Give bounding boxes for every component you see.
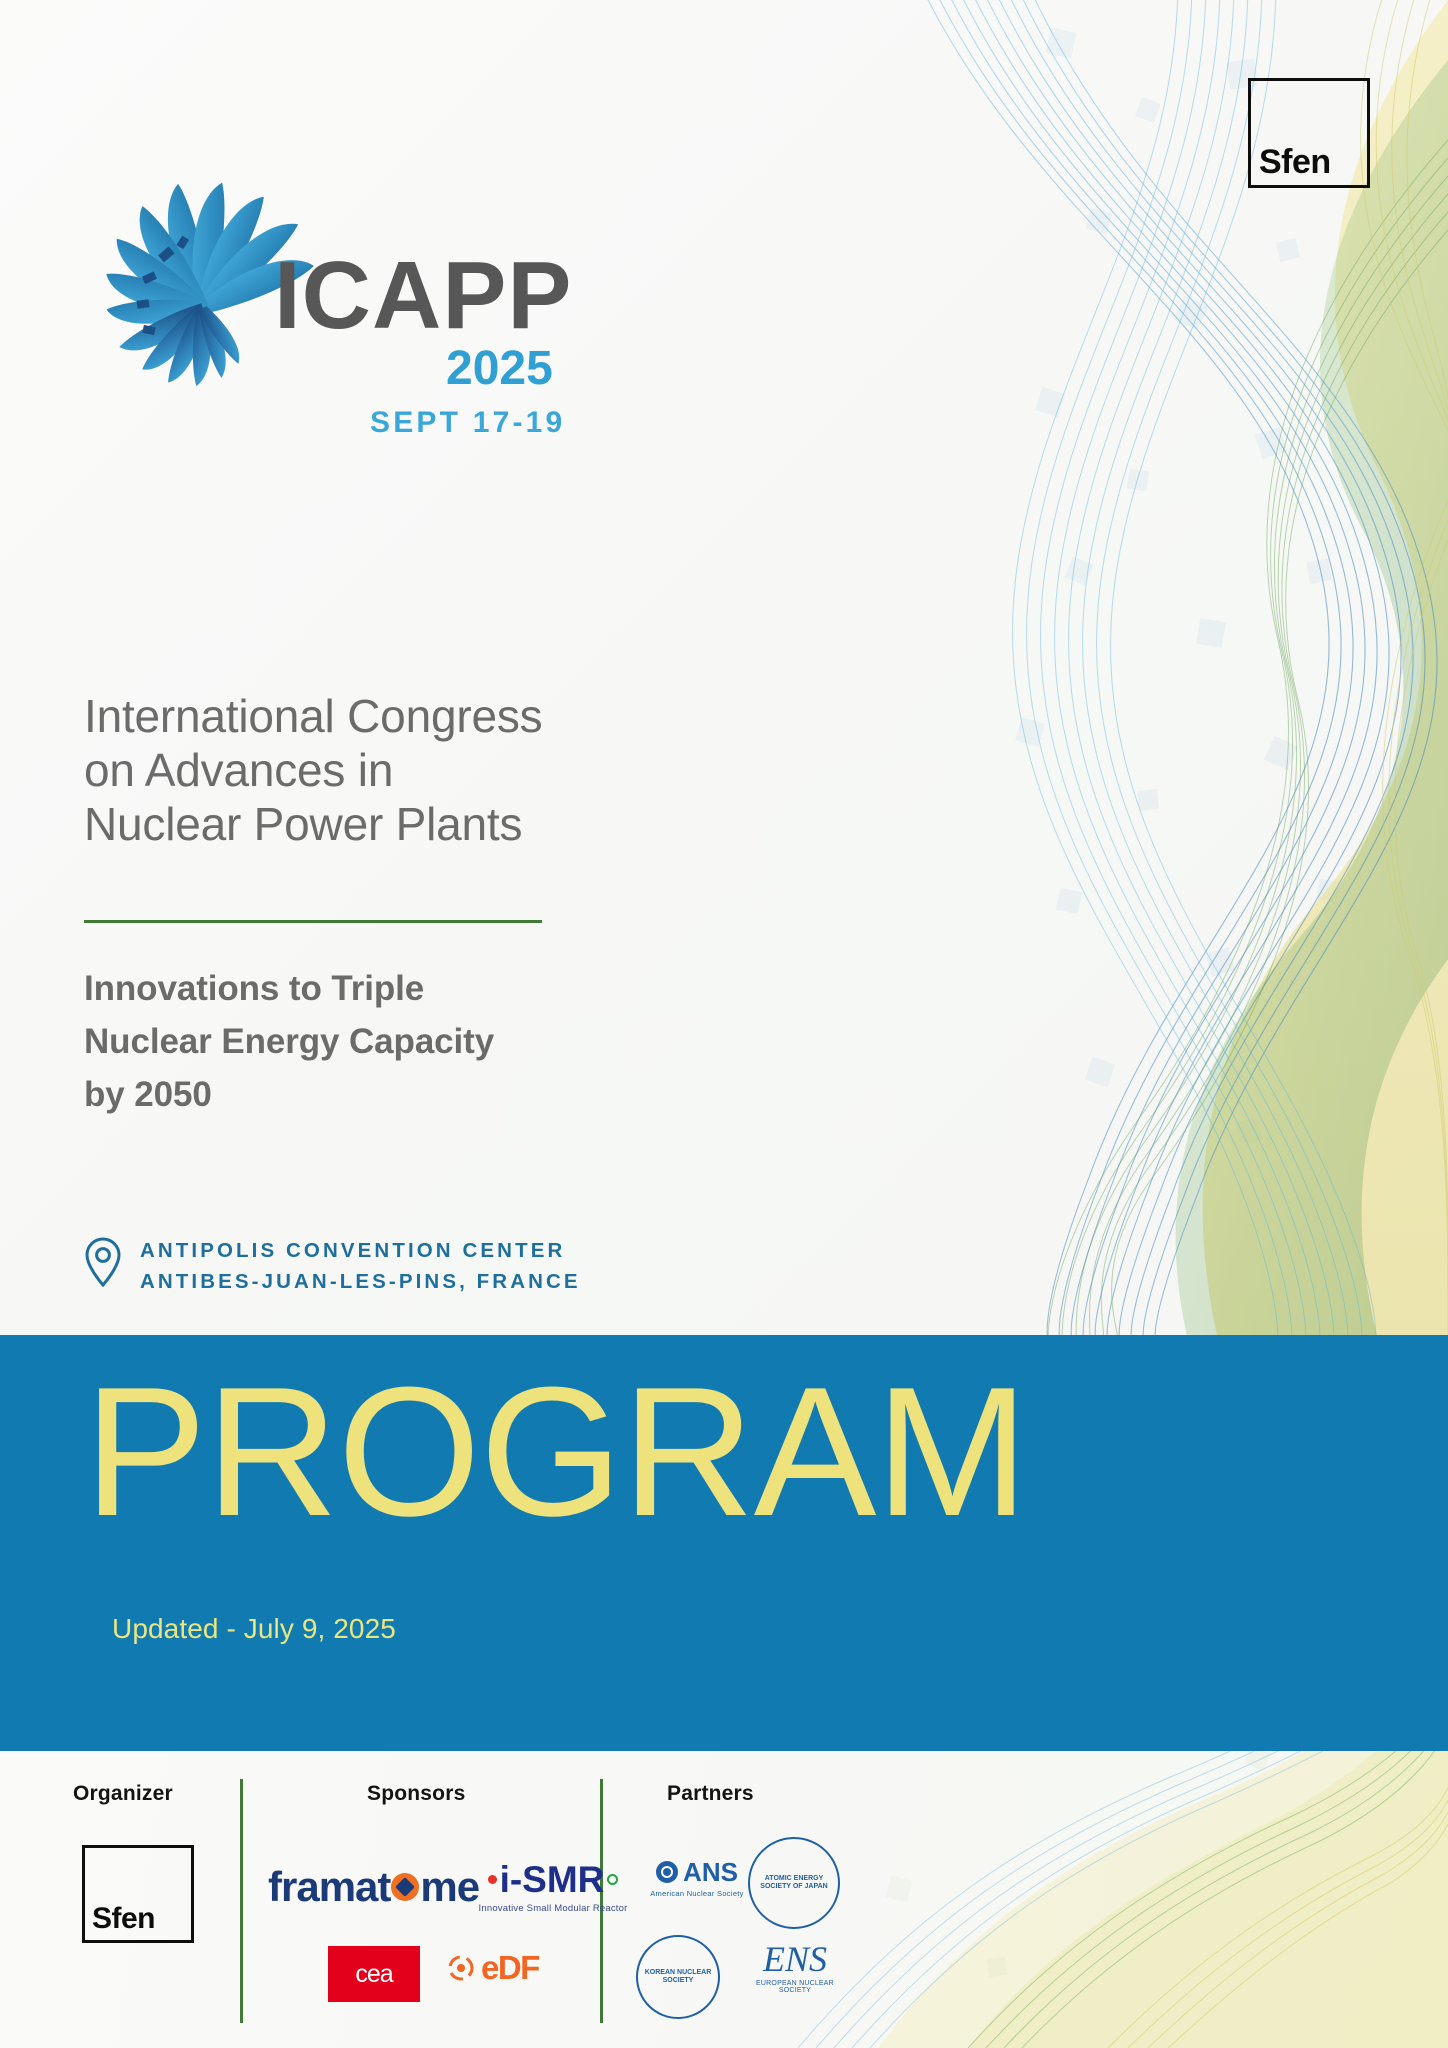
venue-line1: ANTIPOLIS CONVENTION CENTER (140, 1235, 581, 1266)
congress-title-line3: Nuclear Power Plants (84, 798, 644, 852)
aesj-logo: ATOMIC ENERGY SOCIETY OF JAPAN (748, 1837, 840, 1929)
program-title: PROGRAM (84, 1359, 1028, 1543)
ismr-wordmark: i-SMR (468, 1861, 638, 1898)
framatome-logo: framatme (268, 1866, 479, 1908)
edf-logo: eDF (448, 1951, 539, 1984)
cea-logo: cea (328, 1946, 420, 2002)
ismr-ring-icon (607, 1874, 618, 1885)
congress-title: International Congress on Advances in Nu… (84, 690, 644, 851)
icapp-wordmark: ICAPP (274, 248, 572, 344)
program-updated-date: Updated - July 9, 2025 (112, 1613, 396, 1645)
location-pin-icon (84, 1237, 122, 1287)
aesj-seal-text: ATOMIC ENERGY SOCIETY OF JAPAN (750, 1871, 838, 1895)
poster-page: ICAPP 2025 SEPT 17-19 Sfen International… (0, 0, 1448, 2048)
framatome-o-icon (391, 1873, 419, 1901)
tagline-line1: Innovations to Triple (84, 962, 604, 1015)
ens-logo: ENS EUROPEAN NUCLEAR SOCIETY (740, 1941, 850, 1994)
ans-atom-icon (656, 1861, 678, 1883)
program-banner: PROGRAM (0, 1335, 1448, 1751)
edf-mark-icon (448, 1955, 474, 1981)
title-divider (84, 920, 542, 923)
congress-title-line2: on Advances in (84, 744, 644, 798)
footer-logos: Organizer Sponsors Partners Sfen framatm… (0, 1751, 1448, 2048)
ens-wordmark: ENS (740, 1941, 850, 1977)
ismr-dot-icon (488, 1875, 497, 1884)
ismr-text: i-SMR (500, 1861, 605, 1898)
tagline-line2: Nuclear Energy Capacity (84, 1015, 604, 1068)
ens-subtext: EUROPEAN NUCLEAR SOCIETY (740, 1980, 850, 1994)
ans-wordmark: ANS (683, 1859, 738, 1885)
footer-label-partners: Partners (667, 1782, 754, 1806)
venue-block: ANTIPOLIS CONVENTION CENTER ANTIBES-JUAN… (84, 1235, 581, 1297)
ismr-subtext: Innovative Small Modular Reactor (468, 1903, 638, 1914)
footer-label-sponsors: Sponsors (367, 1782, 465, 1806)
sfen-logo-top: Sfen (1248, 78, 1370, 188)
footer-label-organizer: Organizer (73, 1782, 173, 1806)
kns-logo: KOREAN NUCLEAR SOCIETY (636, 1935, 720, 2019)
venue-address: ANTIPOLIS CONVENTION CENTER ANTIBES-JUAN… (140, 1235, 581, 1297)
congress-title-line1: International Congress (84, 690, 644, 744)
ans-subtext: American Nuclear Society (632, 1889, 762, 1898)
sfen-footer-wordmark: Sfen (92, 1904, 155, 1934)
edf-wordmark: eDF (481, 1951, 539, 1984)
icapp-dates: SEPT 17-19 (370, 408, 565, 438)
wave-artwork-top (618, 0, 1448, 1340)
icapp-year: 2025 (446, 345, 553, 393)
ans-row: ANS (632, 1859, 762, 1885)
ans-logo: ANS American Nuclear Society (632, 1859, 762, 1898)
venue-line2: ANTIBES-JUAN-LES-PINS, FRANCE (140, 1266, 581, 1297)
sfen-logo-footer: Sfen (82, 1845, 194, 1943)
framatome-text-a: framat (268, 1866, 390, 1908)
footer-divider-1 (240, 1779, 243, 2023)
tagline-line3: by 2050 (84, 1068, 604, 1121)
kns-seal-text: KOREAN NUCLEAR SOCIETY (638, 1965, 718, 1989)
icapp-logo: ICAPP 2025 SEPT 17-19 (78, 168, 598, 458)
sfen-wordmark: Sfen (1259, 145, 1331, 179)
ismr-logo: i-SMR Innovative Small Modular Reactor (468, 1861, 638, 1914)
congress-tagline: Innovations to Triple Nuclear Energy Cap… (84, 962, 604, 1122)
